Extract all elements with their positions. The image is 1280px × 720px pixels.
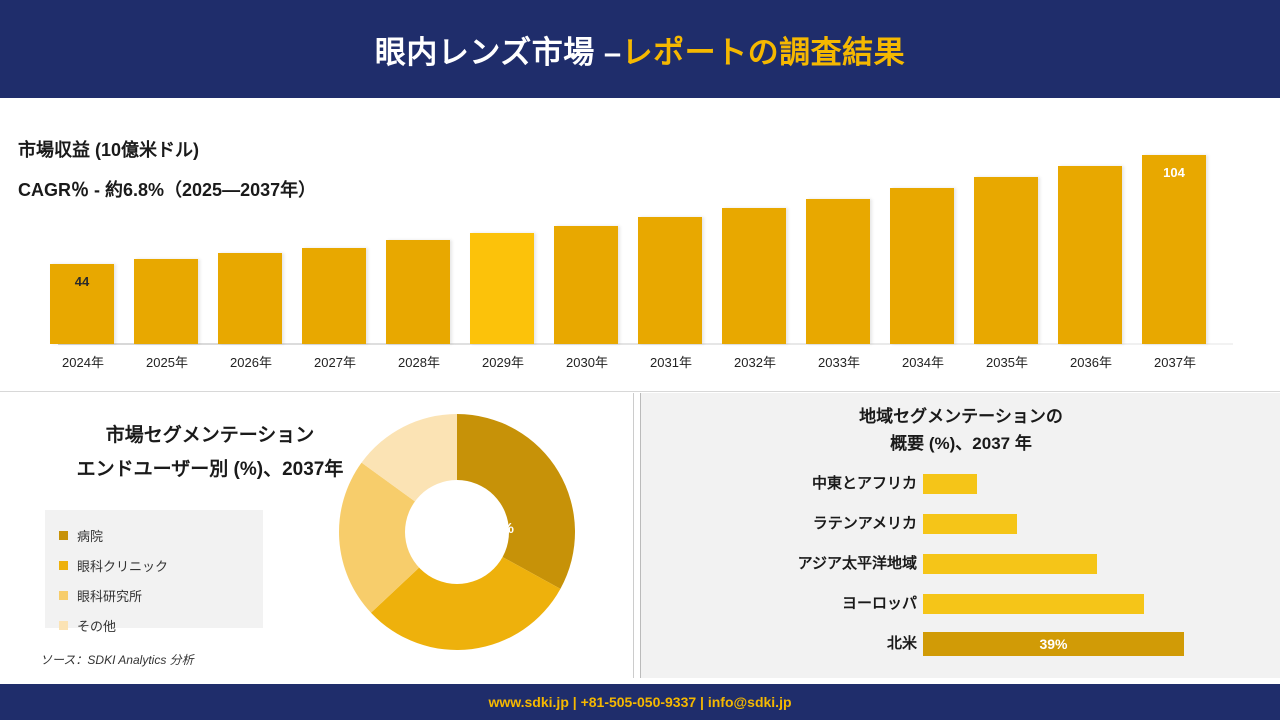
bar: 44: [50, 264, 114, 344]
legend-label: 病院: [77, 526, 103, 545]
bar: [386, 240, 450, 344]
legend-label: 眼科研究所: [77, 586, 142, 605]
revenue-x-axis: 2024年2025年2026年2027年2028年2029年2030年2031年…: [40, 352, 1240, 374]
x-axis-label: 2027年: [293, 352, 377, 371]
revenue-bars: 44104: [40, 114, 1240, 344]
page-title-accent: レポートの調査結果: [622, 35, 906, 70]
bar-column: 44: [50, 114, 114, 344]
bar-column: [554, 114, 618, 344]
bar-column: [890, 114, 954, 344]
regional-title-line2: 概要 (%)、2037 年: [641, 430, 1280, 457]
x-axis-label: 2025年: [125, 352, 209, 371]
bar-column: [974, 114, 1038, 344]
regional-label: 中東とアフリカ: [677, 472, 917, 493]
legend-label: 眼科クリニック: [77, 556, 168, 575]
legend-item: 眼科研究所: [59, 580, 263, 610]
regional-panel: 地域セグメンテーションの 概要 (%)、2037 年 中東とアフリカラテンアメリ…: [640, 393, 1280, 678]
bar-column: [1058, 114, 1122, 344]
donut-svg: [332, 407, 582, 657]
header-bar: 眼内レンズ市場 –レポートの調査結果: [0, 0, 1280, 98]
bar-column: [302, 114, 366, 344]
bar-column: [386, 114, 450, 344]
bar-column: [638, 114, 702, 344]
footer-contact: www.sdki.jp | +81-505-050-9337 | info@sd…: [488, 694, 791, 710]
bar: [638, 217, 702, 344]
regional-label: 北米: [677, 632, 917, 653]
legend-item: 眼科クリニック: [59, 550, 263, 580]
segmentation-title-line2: エンドユーザー別 (%)、2037年: [40, 453, 380, 487]
regional-bar: 39%: [923, 632, 1184, 656]
regional-label: ラテンアメリカ: [677, 512, 917, 533]
segmentation-title-line1: 市場セグメンテーション: [40, 419, 380, 453]
regional-title: 地域セグメンテーションの 概要 (%)、2037 年: [641, 403, 1280, 457]
regional-row: アジア太平洋地域: [641, 547, 1280, 581]
bar: [302, 248, 366, 344]
footer-bar: www.sdki.jp | +81-505-050-9337 | info@sd…: [0, 684, 1280, 720]
x-axis-label: 2030年: [545, 352, 629, 371]
bar-column: 104: [1142, 114, 1206, 344]
legend-swatch: [59, 561, 68, 570]
regional-row: 北米39%: [641, 627, 1280, 661]
segmentation-legend: 病院眼科クリニック眼科研究所その他: [45, 510, 263, 628]
segmentation-panel: 市場セグメンテーション エンドユーザー別 (%)、2037年 病院眼科クリニック…: [0, 393, 634, 678]
regional-bar: [923, 554, 1097, 574]
bar: [554, 226, 618, 344]
legend-label: その他: [77, 616, 116, 635]
revenue-chart-section: 市場収益 (10億米ドル) CAGR％ - 約6.8%（2025―2037年） …: [0, 104, 1280, 392]
bar-value-label: 44: [50, 274, 114, 289]
bar: [470, 233, 534, 344]
x-axis-label: 2036年: [1049, 352, 1133, 371]
x-axis-label: 2029年: [461, 352, 545, 371]
regional-label: アジア太平洋地域: [677, 552, 917, 573]
bottom-section: 市場セグメンテーション エンドユーザー別 (%)、2037年 病院眼科クリニック…: [0, 393, 1280, 678]
regional-row: ラテンアメリカ: [641, 507, 1280, 541]
bar-column: [722, 114, 786, 344]
bar: [806, 199, 870, 344]
slide-root: 眼内レンズ市場 –レポートの調査結果 市場収益 (10億米ドル) CAGR％ -…: [0, 0, 1280, 720]
bar: [722, 208, 786, 344]
bar-column: [470, 114, 534, 344]
bar: [1058, 166, 1122, 344]
donut-primary-value: 33%: [484, 520, 514, 537]
x-axis-label: 2024年: [41, 352, 125, 371]
source-note: ソース：SDKI Analytics 分析: [40, 651, 194, 668]
regional-bar: [923, 514, 1017, 534]
regional-bars: 中東とアフリカラテンアメリカアジア太平洋地域ヨーロッパ北米39%: [641, 467, 1280, 667]
bar-column: [218, 114, 282, 344]
page-title-main: 眼内レンズ市場 –: [375, 35, 622, 70]
legend-item: 病院: [59, 520, 263, 550]
segmentation-title: 市場セグメンテーション エンドユーザー別 (%)、2037年: [40, 419, 380, 487]
page-title: 眼内レンズ市場 –レポートの調査結果: [375, 27, 905, 72]
bar: [890, 188, 954, 344]
x-axis-label: 2032年: [713, 352, 797, 371]
donut-chart: 33%: [332, 407, 582, 657]
regional-title-line1: 地域セグメンテーションの: [641, 403, 1280, 430]
x-axis-label: 2033年: [797, 352, 881, 371]
legend-swatch: [59, 621, 68, 630]
bar-column: [806, 114, 870, 344]
regional-bar-value: 39%: [923, 636, 1184, 652]
bar: 104: [1142, 155, 1206, 344]
x-axis-label: 2031年: [629, 352, 713, 371]
x-axis-label: 2037年: [1133, 352, 1217, 371]
bar: [134, 259, 198, 344]
regional-row: 中東とアフリカ: [641, 467, 1280, 501]
regional-row: ヨーロッパ: [641, 587, 1280, 621]
legend-swatch: [59, 531, 68, 540]
x-axis-label: 2035年: [965, 352, 1049, 371]
bar: [974, 177, 1038, 344]
bar-value-label: 104: [1142, 165, 1206, 180]
bar: [218, 253, 282, 344]
regional-bar: [923, 474, 977, 494]
legend-swatch: [59, 591, 68, 600]
regional-label: ヨーロッパ: [677, 592, 917, 613]
x-axis-label: 2034年: [881, 352, 965, 371]
x-axis-label: 2026年: [209, 352, 293, 371]
bar-column: [134, 114, 198, 344]
legend-item: その他: [59, 610, 263, 640]
x-axis-label: 2028年: [377, 352, 461, 371]
regional-bar: [923, 594, 1144, 614]
